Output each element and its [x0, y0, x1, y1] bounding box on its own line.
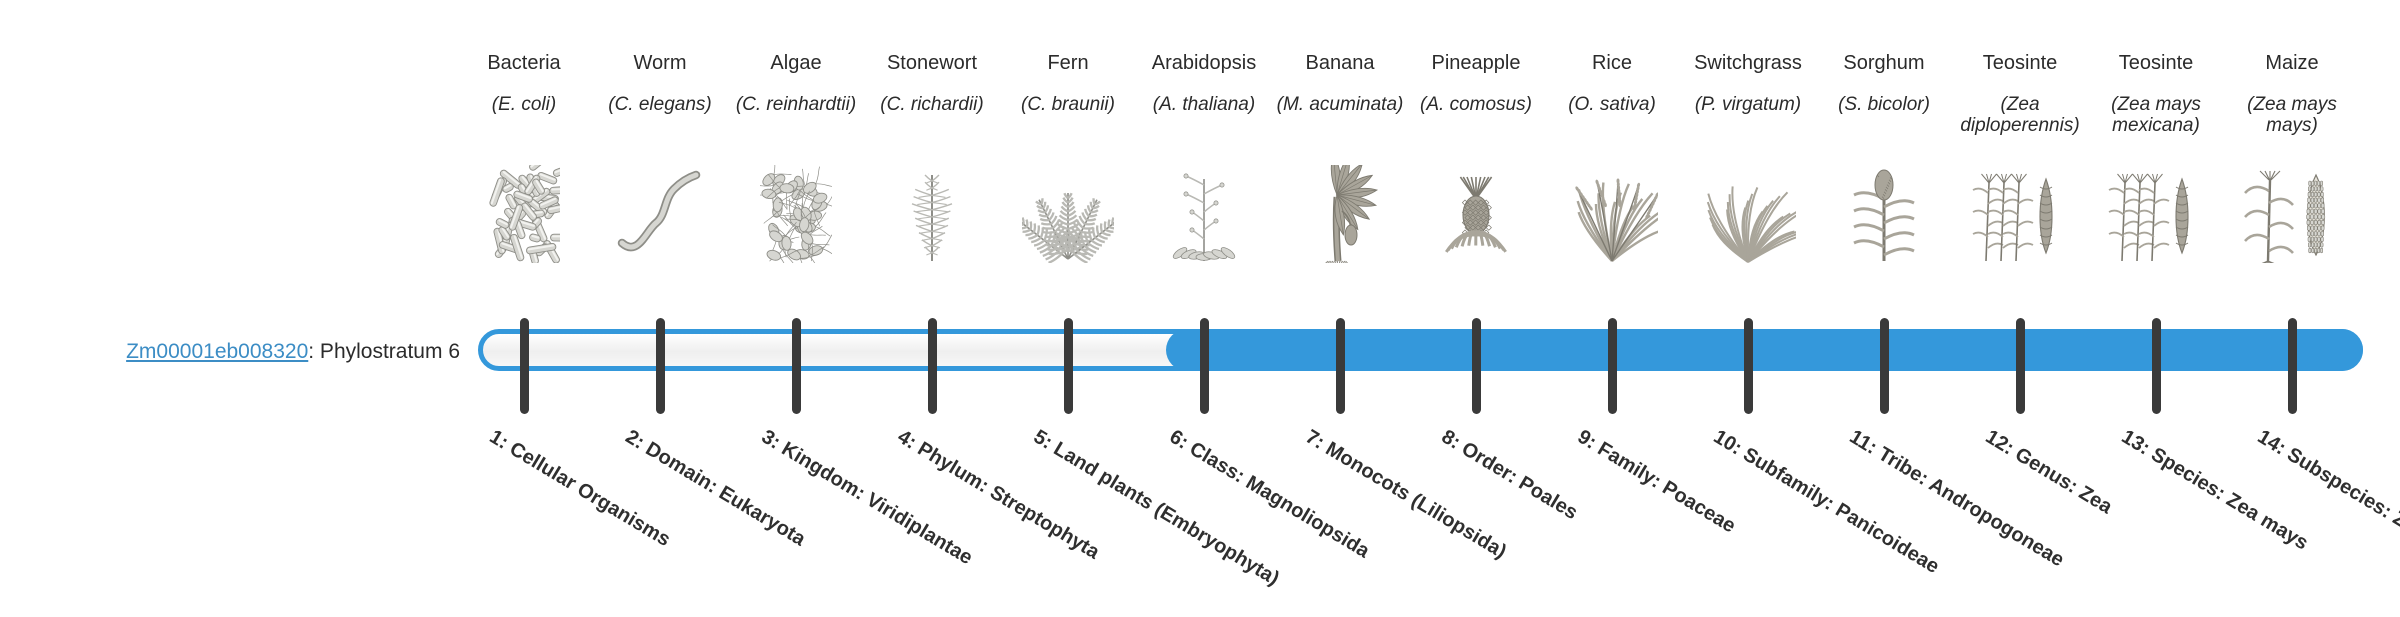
species-column-13: Teosinte(Zea mays mexicana): [2090, 52, 2222, 137]
species-common-name: Maize: [2226, 52, 2358, 76]
stratum-number: 12:: [1982, 426, 2018, 460]
species-column-1: Bacteria(E. coli): [458, 52, 590, 115]
stratum-tick-11[interactable]: [1880, 318, 1889, 414]
stratum-tick-3[interactable]: [792, 318, 801, 414]
gene-phylostratum-label: Zm00001eb008320: Phylostratum 6: [40, 340, 460, 364]
banana-plant-icon: [1274, 165, 1406, 280]
species-column-8: Pineapple(A. comosus): [1410, 52, 1542, 115]
stratum-text: Genus: Zea: [2011, 443, 2116, 518]
stratum-tick-7[interactable]: [1336, 318, 1345, 414]
stratum-text: Land plants (Embryophyta): [1050, 438, 1283, 590]
stratum-number: 14:: [2254, 426, 2290, 460]
species-column-2: Worm(C. elegans): [594, 52, 726, 115]
species-common-name: Switchgrass: [1682, 52, 1814, 76]
teosinte-plant-ear-icon: [1954, 165, 2086, 280]
species-scientific-name: (C. reinhardtii): [730, 94, 862, 116]
chlamydomonas-cells-icon: [730, 165, 862, 280]
species-common-name: Rice: [1546, 52, 1678, 76]
rice-plant-icon: [1546, 165, 1678, 280]
pineapple-plant-icon: [1410, 165, 1542, 280]
species-scientific-name: (P. virgatum): [1682, 94, 1814, 116]
stratum-tick-10[interactable]: [1744, 318, 1753, 414]
species-common-name: Fern: [1002, 52, 1134, 76]
species-common-name: Arabidopsis: [1138, 52, 1270, 76]
species-scientific-name: (Zea mays mexicana): [2090, 94, 2222, 138]
species-common-name: Teosinte: [2090, 52, 2222, 76]
species-column-6: Arabidopsis(A. thaliana): [1138, 52, 1270, 115]
species-scientific-name: (S. bicolor): [1818, 94, 1950, 116]
stratum-tick-5[interactable]: [1064, 318, 1073, 414]
species-scientific-name: (C. elegans): [594, 94, 726, 116]
species-scientific-name: (O. sativa): [1546, 94, 1678, 116]
species-scientific-name: (Zea diploperennis): [1954, 94, 2086, 138]
species-column-4: Stonewort(C. richardii): [866, 52, 998, 115]
species-column-3: Algae(C. reinhardtii): [730, 52, 862, 115]
species-scientific-name: (M. acuminata): [1274, 94, 1406, 116]
species-column-12: Teosinte(Zea diploperennis): [1954, 52, 2086, 137]
species-common-name: Worm: [594, 52, 726, 76]
maize-plant-cob-icon: [2226, 165, 2358, 280]
species-common-name: Algae: [730, 52, 862, 76]
arabidopsis-rosette-icon: [1138, 165, 1270, 280]
species-scientific-name: (A. comosus): [1410, 94, 1542, 116]
nematode-worm-icon: [594, 165, 726, 280]
species-column-7: Banana(M. acuminata): [1274, 52, 1406, 115]
species-common-name: Stonewort: [866, 52, 998, 76]
ecoli-rods-icon: [458, 165, 590, 280]
species-common-name: Banana: [1274, 52, 1406, 76]
species-column-11: Sorghum(S. bicolor): [1818, 52, 1950, 115]
stratum-tick-12[interactable]: [2016, 318, 2025, 414]
species-common-name: Bacteria: [458, 52, 590, 76]
species-scientific-name: (C. richardii): [866, 94, 998, 116]
stratum-tick-13[interactable]: [2152, 318, 2161, 414]
stratum-tick-2[interactable]: [656, 318, 665, 414]
stratum-tick-8[interactable]: [1472, 318, 1481, 414]
stratum-tick-6[interactable]: [1200, 318, 1209, 414]
species-scientific-name: (C. braunii): [1002, 94, 1134, 116]
stratum-number: 11:: [1846, 426, 1881, 459]
stratum-tick-9[interactable]: [1608, 318, 1617, 414]
stratum-number: 13:: [2118, 426, 2154, 460]
sorghum-plant-icon: [1818, 165, 1950, 280]
stratum-tick-1[interactable]: [520, 318, 529, 414]
phylostratum-fill: [1166, 329, 2363, 371]
stonewort-alga-icon: [866, 165, 998, 280]
stratum-tick-4[interactable]: [928, 318, 937, 414]
switchgrass-clump-icon: [1682, 165, 1814, 280]
stratum-number: 10:: [1710, 426, 1746, 460]
species-scientific-name: (Zea mays mays): [2226, 94, 2358, 138]
stratum-text: Order: Poales: [1458, 438, 1582, 524]
gene-id-link[interactable]: Zm00001eb008320: [126, 340, 308, 363]
fern-frond-icon: [1002, 165, 1134, 280]
species-column-10: Switchgrass(P. virgatum): [1682, 52, 1814, 115]
stratum-tick-14[interactable]: [2288, 318, 2297, 414]
species-scientific-name: (E. coli): [458, 94, 590, 116]
species-common-name: Pineapple: [1410, 52, 1542, 76]
species-column-9: Rice(O. sativa): [1546, 52, 1678, 115]
species-common-name: Sorghum: [1818, 52, 1950, 76]
species-scientific-name: (A. thaliana): [1138, 94, 1270, 116]
species-column-5: Fern(C. braunii): [1002, 52, 1134, 115]
phylostratigraphy-chart: Zm00001eb008320: Phylostratum 6 Bacteria…: [0, 0, 2400, 580]
teosinte-plant-ear-icon: [2090, 165, 2222, 280]
species-common-name: Teosinte: [1954, 52, 2086, 76]
phylostratum-text: : Phylostratum 6: [308, 340, 460, 363]
species-column-14: Maize(Zea mays mays): [2226, 52, 2358, 137]
